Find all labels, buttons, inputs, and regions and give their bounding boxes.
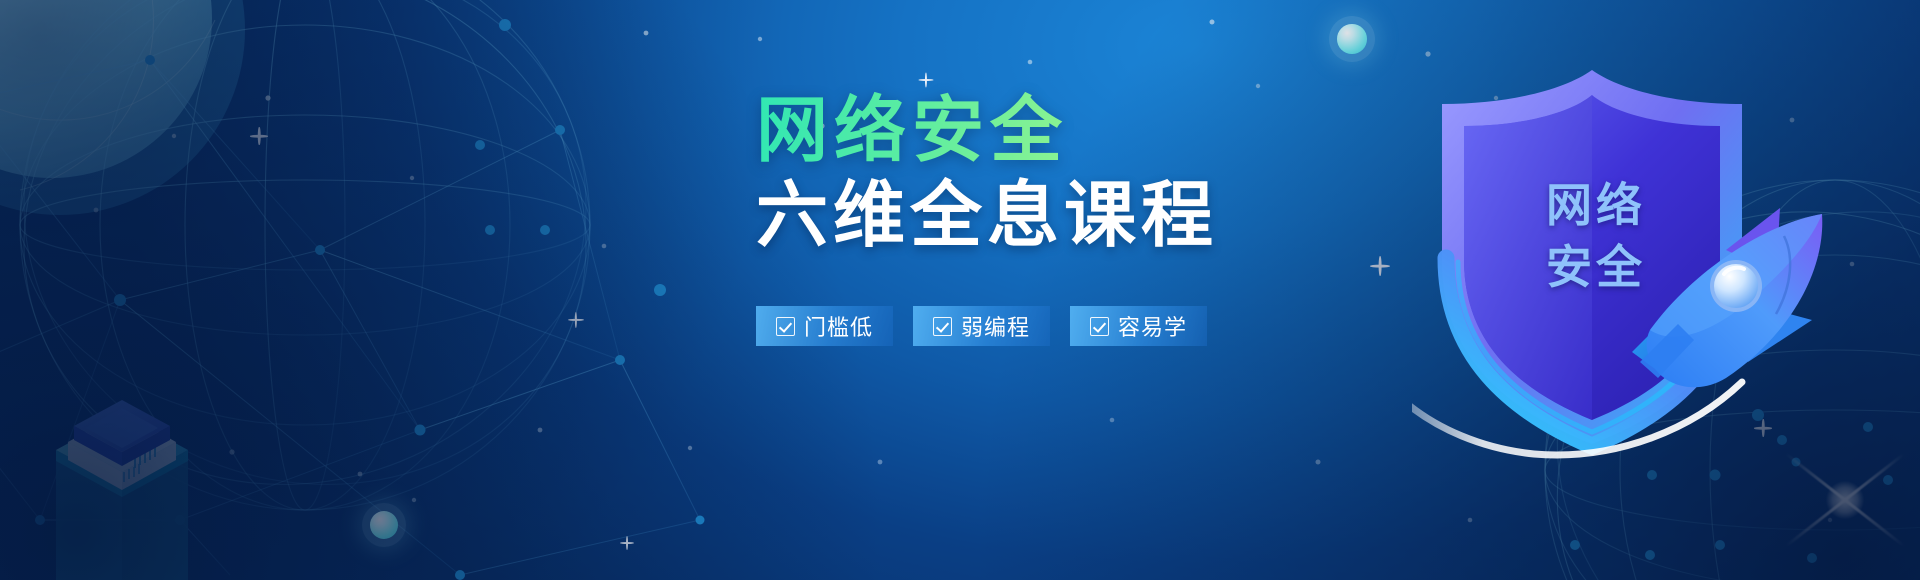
feature-tag-list: 门槛低 弱编程 容易学 [756,306,1207,346]
feature-tag-light-coding[interactable]: 弱编程 [913,306,1050,346]
banner-content: 网络安全 六维全息课程 门槛低 弱编程 容易学 [0,0,1920,580]
checkbox-checked-icon [1090,317,1109,336]
feature-tag-label: 门槛低 [804,310,873,342]
headline-block: 网络安全 六维全息课程 [756,92,1396,256]
security-course-banner: 网络 安全 网络安全 六维全息课程 门槛低 弱编程 容易学 [0,0,1920,580]
page-subtitle: 六维全息课程 [756,176,1396,256]
checkbox-checked-icon [776,317,795,336]
feature-tag-easy-learn[interactable]: 容易学 [1070,306,1207,346]
feature-tag-low-barrier[interactable]: 门槛低 [756,306,893,346]
checkbox-checked-icon [933,317,952,336]
page-title: 网络安全 [756,92,1396,170]
feature-tag-label: 弱编程 [961,310,1030,342]
feature-tag-label: 容易学 [1118,310,1187,342]
